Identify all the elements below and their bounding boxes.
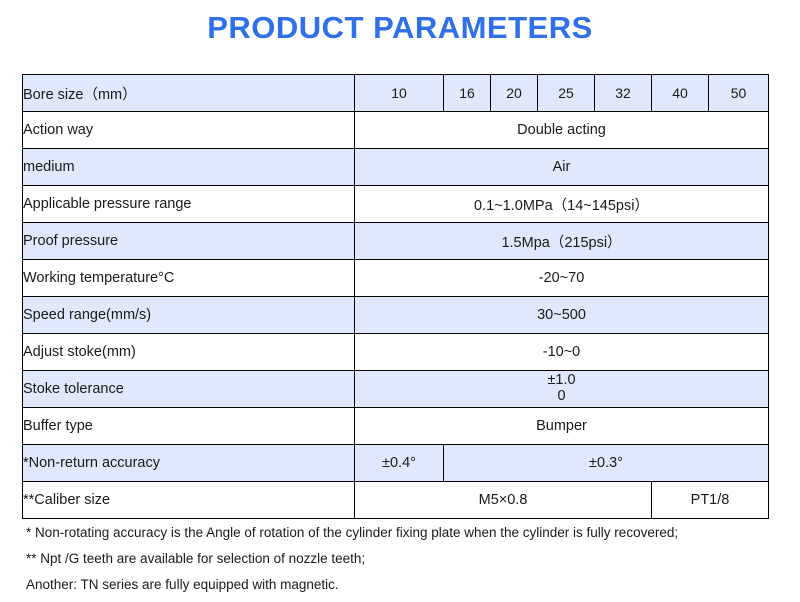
table-row-working-temperature: Working temperature°C -20~70 [23, 260, 769, 297]
bore-size-10: 10 [355, 75, 444, 112]
stoke-tolerance-upper: ±1.0 [355, 373, 768, 389]
row-value-applicable-pressure-range: 0.1~1.0MPa（14~145psi） [355, 186, 769, 223]
row-value-proof-pressure: 1.5Mpa（215psi） [355, 223, 769, 260]
non-return-accuracy-bore-10: ±0.4° [355, 445, 444, 482]
table-row-buffer-type: Buffer type Bumper [23, 408, 769, 445]
row-label-proof-pressure: Proof pressure [23, 223, 355, 260]
row-label-applicable-pressure-range: Applicable pressure range [23, 186, 355, 223]
table-row-stoke-tolerance: Stoke tolerance ±1.0 0 [23, 371, 769, 408]
bore-size-32: 32 [595, 75, 652, 112]
non-return-accuracy-bore-16-50: ±0.3° [444, 445, 769, 482]
row-label-bore-size: Bore size（mm） [23, 75, 355, 112]
table-row-proof-pressure: Proof pressure 1.5Mpa（215psi） [23, 223, 769, 260]
product-parameters-table: Bore size（mm） 10 16 20 25 32 40 50 Actio… [22, 74, 768, 519]
row-value-adjust-stoke: -10~0 [355, 334, 769, 371]
row-value-stoke-tolerance: ±1.0 0 [355, 371, 769, 408]
table-row-medium: medium Air [23, 149, 769, 186]
table-row-adjust-stoke: Adjust stoke(mm) -10~0 [23, 334, 769, 371]
bore-size-20: 20 [491, 75, 538, 112]
row-label-medium: medium [23, 149, 355, 186]
footnotes: * Non-rotating accuracy is the Angle of … [26, 520, 776, 598]
row-label-action-way: Action way [23, 112, 355, 149]
row-value-buffer-type: Bumper [355, 408, 769, 445]
footnote-non-rotating-accuracy: * Non-rotating accuracy is the Angle of … [26, 520, 776, 546]
caliber-size-bore-40-50: PT1/8 [652, 482, 769, 519]
table-row-bore-size: Bore size（mm） 10 16 20 25 32 40 50 [23, 75, 769, 112]
page-title: PRODUCT PARAMETERS [0, 10, 800, 46]
row-label-adjust-stoke: Adjust stoke(mm) [23, 334, 355, 371]
row-label-buffer-type: Buffer type [23, 408, 355, 445]
row-value-action-way: Double acting [355, 112, 769, 149]
row-label-speed-range: Speed range(mm/s) [23, 297, 355, 334]
table-row-applicable-pressure-range: Applicable pressure range 0.1~1.0MPa（14~… [23, 186, 769, 223]
row-label-stoke-tolerance: Stoke tolerance [23, 371, 355, 408]
row-value-speed-range: 30~500 [355, 297, 769, 334]
stoke-tolerance-lower: 0 [355, 389, 768, 405]
row-label-non-return-accuracy: *Non-return accuracy [23, 445, 355, 482]
table-row-non-return-accuracy: *Non-return accuracy ±0.4° ±0.3° [23, 445, 769, 482]
footnote-tn-series-magnetic: Another: TN series are fully equipped wi… [26, 572, 776, 598]
bore-size-40: 40 [652, 75, 709, 112]
row-value-working-temperature: -20~70 [355, 260, 769, 297]
row-value-medium: Air [355, 149, 769, 186]
spec-table: Bore size（mm） 10 16 20 25 32 40 50 Actio… [22, 74, 769, 519]
table-row-speed-range: Speed range(mm/s) 30~500 [23, 297, 769, 334]
bore-size-50: 50 [709, 75, 769, 112]
bore-size-25: 25 [538, 75, 595, 112]
row-label-caliber-size: **Caliber size [23, 482, 355, 519]
row-label-working-temperature: Working temperature°C [23, 260, 355, 297]
table-row-caliber-size: **Caliber size M5×0.8 PT1/8 [23, 482, 769, 519]
footnote-npt-g-teeth: ** Npt /G teeth are available for select… [26, 546, 776, 572]
caliber-size-bore-10-32: M5×0.8 [355, 482, 652, 519]
table-row-action-way: Action way Double acting [23, 112, 769, 149]
bore-size-16: 16 [444, 75, 491, 112]
